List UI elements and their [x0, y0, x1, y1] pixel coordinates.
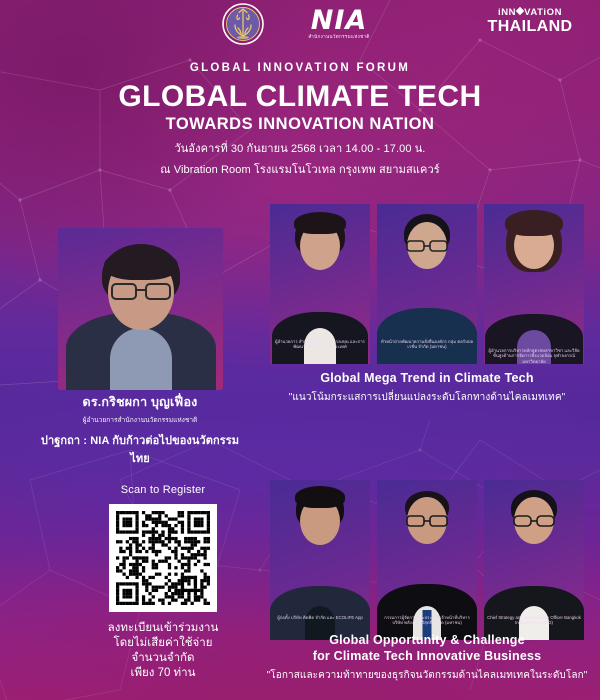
speaker-photo [484, 480, 584, 600]
event-venue: ณ Vibration Room โรงแรมโนโวเทล กรุงเทพ ส… [0, 160, 600, 178]
innovation-thailand-vation: VATiON [524, 7, 562, 18]
session-title-en-line1: Global Opportunity & Challenge [262, 632, 592, 648]
speaker-role: ผู้อำนวยการบริหารหลักสูตรสหสาขาวิชา และว… [484, 348, 584, 364]
speaker-role: Chief Strategy and Sustainability Office… [484, 615, 584, 626]
nia-thai-subtitle: สำนักงานนวัตกรรมแห่งชาติ [280, 34, 398, 41]
keynote-speaker-info: ดร.กริชผกา บุญเฟื่อง ผู้อำนวยการสำนักงาน… [40, 392, 240, 467]
speaker-card: กุลพน สุภาพพันธ์ ผู้อำนวยการ สำนักงานส่ง… [270, 204, 370, 364]
speaker-role: กรรมการผู้จัดการและประธานเจ้าหน้าที่บริห… [377, 615, 477, 626]
speaker-photo [377, 204, 477, 324]
innovation-thailand-bottom-line: THAILAND [478, 18, 582, 35]
innovation-thailand-logo: iNNVATiON THAILAND [478, 7, 582, 35]
speaker-role: หัวหน้าฝ่ายพัฒนาความยั่งยืนองค์กร กลุ่ม … [377, 339, 477, 350]
page-title: GLOBAL CLIMATE TECH [0, 80, 600, 114]
session-card-global-mega-trend: กุลพน สุภาพพันธ์ ผู้อำนวยการ สำนักงานส่ง… [262, 198, 592, 426]
speaker-role: ผู้อำนวยการ สำนักงานส่งเสริมการลงทุน และ… [270, 339, 370, 350]
session-card-global-opportunity-challenge: พิพัฒน์ อภิรักษ์ธนากร ผู้ก่อตั้ง บริษัท … [262, 474, 592, 700]
registration-qr-code[interactable] [116, 511, 210, 605]
speaker-photo [270, 204, 370, 324]
mhesi-emblem-icon [222, 3, 264, 45]
session-title-th: "โอกาสและความท้าทายของธุรกิจนวัตกรรมด้าน… [262, 668, 592, 683]
registration-line-4: เพียง 70 ท่าน [78, 666, 248, 681]
speaker-card: พงษ์ศักดิ์ เหลืองจินดารัตน์ Chief Strate… [484, 480, 584, 640]
speaker-photo [377, 480, 477, 600]
session-title: Global Opportunity & Challenge for Clima… [262, 632, 592, 683]
innovation-thailand-top-line: iNNVATiON [478, 7, 582, 18]
page-subtitle: TOWARDS INNOVATION NATION [0, 115, 600, 134]
session-title-en: Global Mega Trend in Climate Tech [262, 370, 592, 386]
registration-details: ลงทะเบียนเข้าร่วมงาน โดยไม่เสียค่าใช้จ่า… [78, 621, 248, 681]
registration-line-2: โดยไม่เสียค่าใช้จ่าย [78, 636, 248, 651]
session-speaker-row: พิพัฒน์ อภิรักษ์ธนากร ผู้ก่อตั้ง บริษัท … [270, 480, 584, 640]
header-logo-bar: NIA สำนักงานนวัตกรรมแห่งชาติ iNNVATiON T… [0, 0, 600, 50]
session-title-th: "แนวโน้มกระแสการเปลี่ยนแปลงระดับโลกทางด้… [262, 390, 592, 405]
speaker-role: ผู้ก่อตั้ง บริษัท คิดคิด จำกัด และ ECOLI… [270, 615, 370, 620]
event-date: วันอังคารที่ 30 กันยายน 2568 เวลา 14.00 … [0, 139, 600, 157]
innovation-thailand-inn: iNN [498, 7, 516, 18]
keynote-speaker-card: ดร.กริชผกา บุญเฟื่อง ผู้อำนวยการสำนักงาน… [40, 228, 240, 433]
registration-line-3: จำนวนจำกัด [78, 651, 248, 666]
forum-kicker: GLOBAL INNOVATION FORUM [0, 62, 600, 74]
registration-line-1: ลงทะเบียนเข้าร่วมงาน [78, 621, 248, 636]
speaker-card: ประพันธ์ศักดิ์ รักษ์ไชยวรรณ กรรมการผู้จั… [377, 480, 477, 640]
speaker-card: วีรศักดิ์ พงษ์ธัญญวิชัย หัวหน้าฝ่ายพัฒนา… [377, 204, 477, 364]
title-block: GLOBAL INNOVATION FORUM GLOBAL CLIMATE T… [0, 62, 600, 178]
keynote-speaker-photo [58, 228, 223, 390]
registration-block: Scan to Register ลงทะเบียนเข้าร่วมงาน โด… [78, 484, 248, 681]
session-title-en-line2: for Climate Tech Innovative Business [262, 648, 592, 664]
session-title: Global Mega Trend in Climate Tech "แนวโน… [262, 370, 592, 405]
speaker-photo [270, 480, 370, 600]
scan-to-register-heading: Scan to Register [78, 484, 248, 496]
speaker-card: พิพัฒน์ อภิรักษ์ธนากร ผู้ก่อตั้ง บริษัท … [270, 480, 370, 640]
event-poster: NIA สำนักงานนวัตกรรมแห่งชาติ iNNVATiON T… [0, 0, 600, 700]
nia-logo: NIA สำนักงานนวัตกรรมแห่งชาติ [280, 8, 398, 42]
keynote-speaker-role: ผู้อำนวยการสำนักงานนวัตกรรมแห่งชาติ [40, 414, 240, 425]
keynote-topic: ปาฐกถา : NIA กับก้าวต่อไปของนวัตกรรมไทย [40, 431, 240, 467]
qr-code-frame[interactable] [109, 504, 217, 612]
speaker-photo [484, 204, 584, 324]
session-speaker-row: กุลพน สุภาพพันธ์ ผู้อำนวยการ สำนักงานส่ง… [270, 204, 584, 364]
nia-wordmark: NIA [280, 8, 398, 33]
speaker-card: รศ.ดร.สุทธิรัตน์ กิตติพงษ์วิเศษ ผู้อำนวย… [484, 204, 584, 364]
keynote-speaker-name: ดร.กริชผกา บุญเฟื่อง [40, 392, 240, 412]
